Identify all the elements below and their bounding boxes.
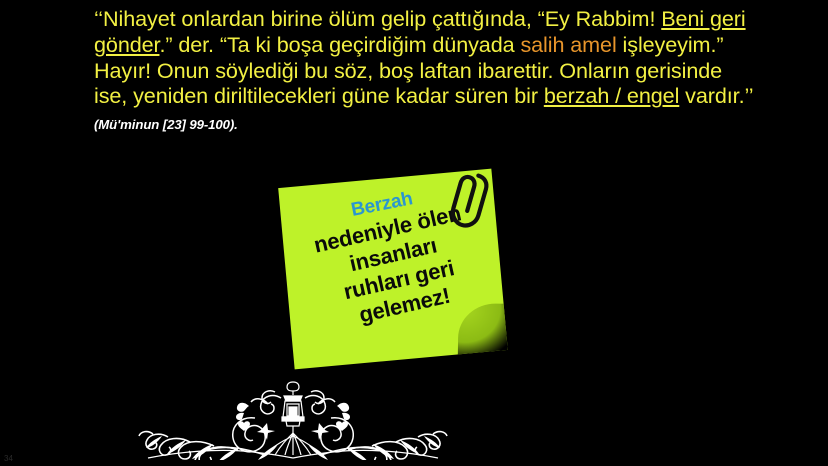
slide-canvas: ‘‘Nihayet onlardan birine ölüm gelip çat…	[0, 0, 828, 466]
sticky-note: Berzah nedeniyle ölen insanları ruhları …	[286, 178, 516, 378]
verse-highlight-salih-amel: salih amel	[520, 32, 616, 57]
sticky-note-text: Berzah nedeniyle ölen insanları ruhları …	[278, 170, 508, 342]
ornamental-divider-icon	[118, 378, 468, 460]
verse-segment-7: vardır.’’	[679, 83, 752, 108]
verse-underlined-berzah-engel: berzah / engel	[544, 83, 679, 108]
verse-text-block: ‘‘Nihayet onlardan birine ölüm gelip çat…	[94, 6, 754, 138]
slide-number: 34	[4, 454, 13, 463]
verse-segment-1: ‘‘Nihayet onlardan birine ölüm gelip çat…	[94, 6, 661, 31]
verse-segment-3: .” der. “Ta ki boşa geçirdiğim dünyada	[159, 32, 520, 57]
verse-citation: (Mü'minun [23] 99-100).	[94, 117, 238, 132]
sticky-note-paper: Berzah nedeniyle ölen insanları ruhları …	[278, 169, 508, 370]
